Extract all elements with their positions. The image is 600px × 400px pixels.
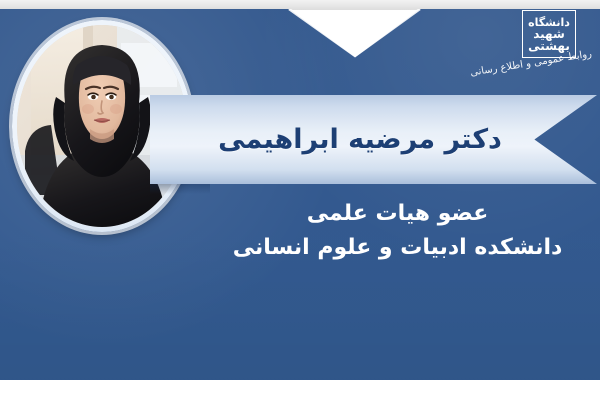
ribbon-drop-shadow <box>150 184 210 194</box>
logo-public-relations-script: روابط عمومی و اطلاع رسانی <box>494 49 596 96</box>
faculty-announcement-card: دانشگاه شهید بهشتی روابط عمومی و اطلاع ر… <box>0 0 600 400</box>
logo-line-beheshti: بهشتی <box>528 40 570 52</box>
logo-line-university: دانشگاه <box>528 17 570 28</box>
university-logo: دانشگاه شهید بهشتی روابط عمومی و اطلاع ر… <box>498 8 594 92</box>
logo-box-inner: دانشگاه شهید بهشتی <box>523 11 575 57</box>
caption-role: عضو هیات علمی <box>200 198 595 230</box>
caption-block: عضو هیات علمی دانشکده ادبیات و علوم انسا… <box>200 198 595 264</box>
logo-box: دانشگاه شهید بهشتی <box>522 10 576 58</box>
faculty-name: دکتر مرضیه ابراهیمی <box>150 95 570 184</box>
caption-faculty: دانشکده ادبیات و علوم انسانی <box>200 232 595 264</box>
logo-line-shahid: شهید <box>533 28 565 40</box>
